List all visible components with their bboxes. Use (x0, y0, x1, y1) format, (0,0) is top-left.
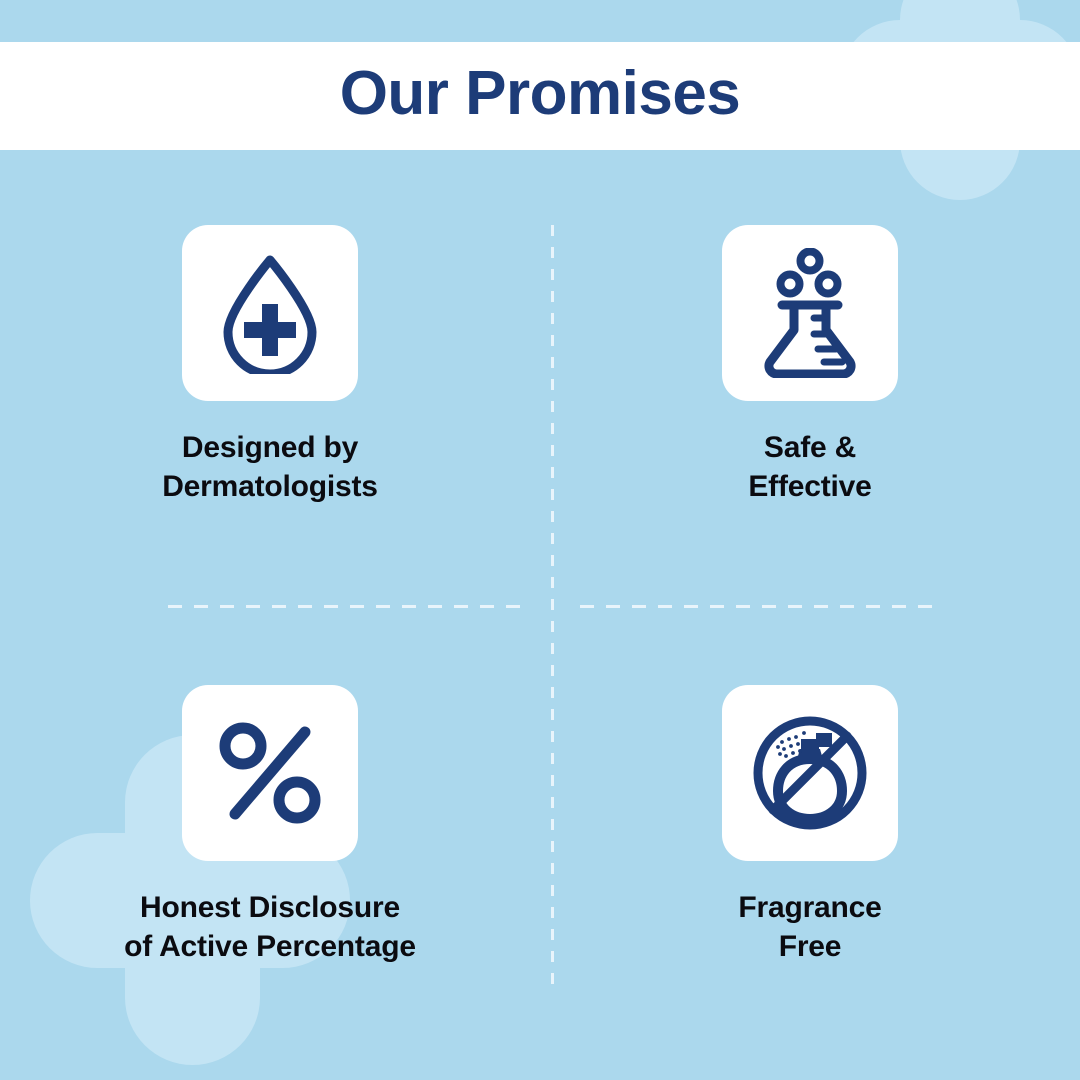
promise-label: Designed by Dermatologists (162, 429, 378, 506)
promise-item-fragrance-free: Fragrance Free (540, 615, 1080, 1080)
no-fragrance-spray-icon (748, 711, 872, 835)
promise-grid: Designed by Dermatologists (0, 150, 1080, 1080)
promise-label: Honest Disclosure of Active Percentage (124, 889, 416, 966)
promise-item-safe-and-effective: Safe & Effective (540, 150, 1080, 615)
promise-item-honest-disclosure: Honest Disclosure of Active Percentage (0, 615, 540, 1080)
icon-card (182, 685, 358, 861)
promise-label: Safe & Effective (748, 429, 871, 506)
promises-infographic: Our Promises Designed by Dermatologists (0, 0, 1080, 1080)
header-band: Our Promises (0, 42, 1080, 150)
icon-card (722, 225, 898, 401)
icon-card (722, 685, 898, 861)
percent-icon (215, 718, 325, 828)
page-title: Our Promises (340, 63, 741, 129)
water-drop-plus-icon (214, 252, 326, 374)
promise-label: Fragrance Free (738, 889, 881, 966)
lab-flask-icon (754, 248, 866, 378)
icon-card (182, 225, 358, 401)
promise-item-designed-by-dermatologists: Designed by Dermatologists (0, 150, 540, 615)
